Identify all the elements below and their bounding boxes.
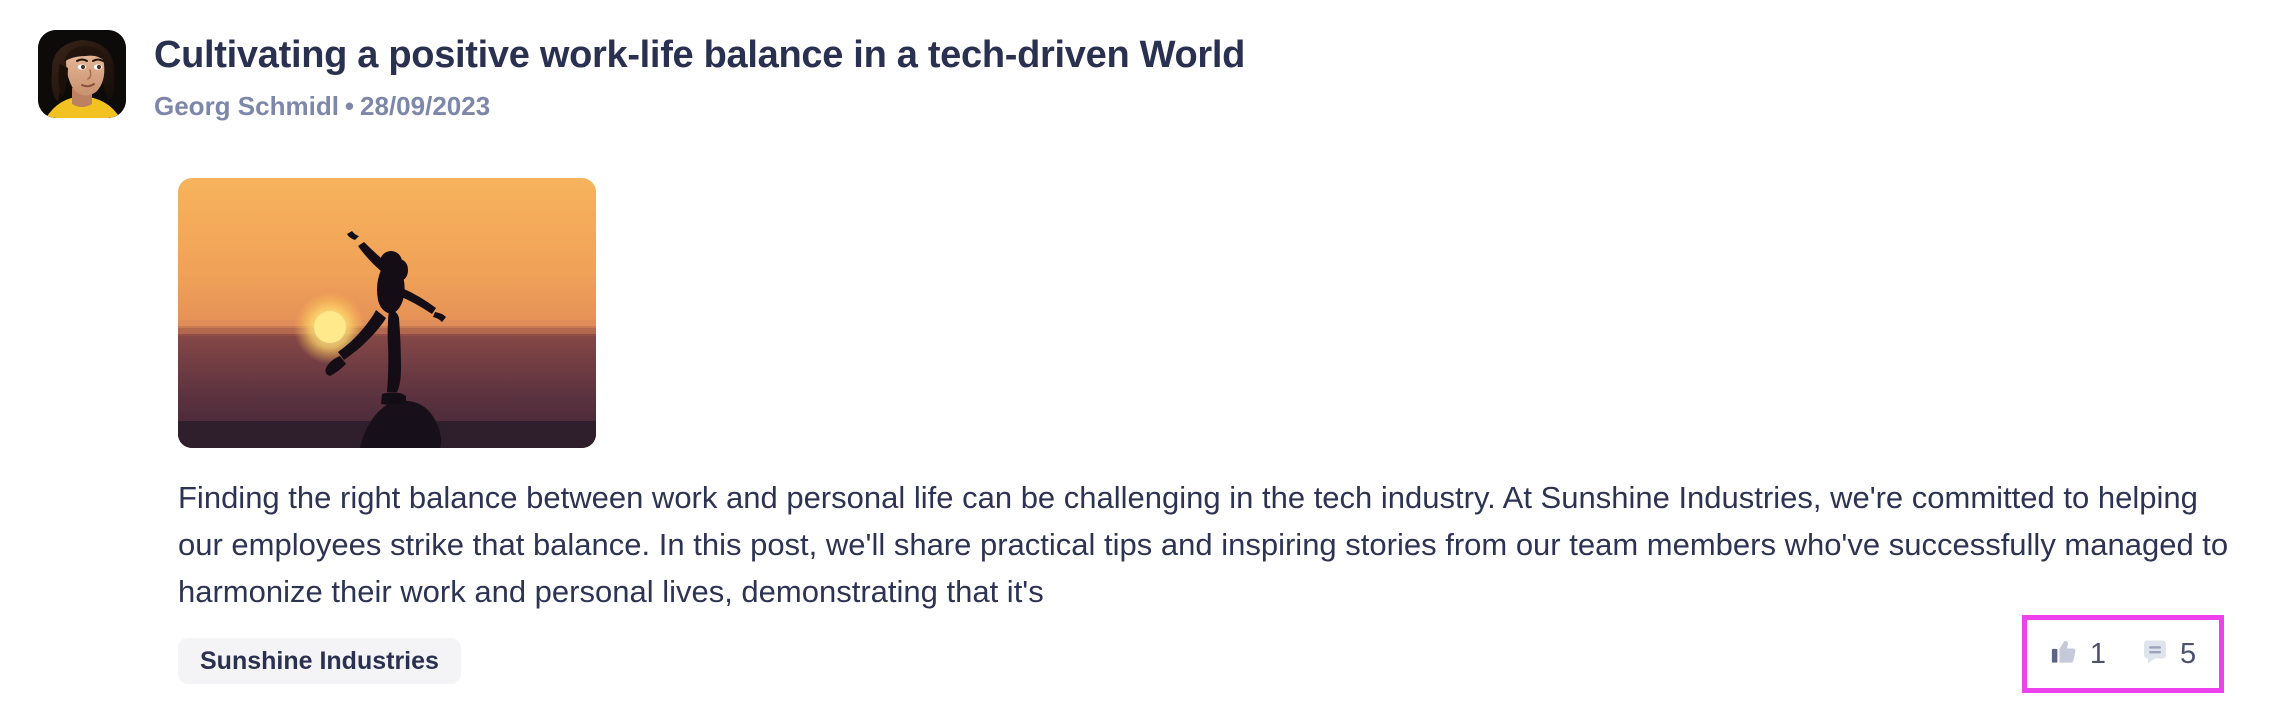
post-title[interactable]: Cultivating a positive work-life balance… [154,32,1245,78]
post-header-text: Cultivating a positive work-life balance… [154,30,1245,122]
post-footer: Sunshine Industries 1 [178,630,2258,692]
byline-separator: • [345,91,354,121]
post-header: Cultivating a positive work-life balance… [38,30,1245,122]
post-date: 28/09/2023 [360,91,490,121]
post-body: Finding the right balance between work a… [178,474,2238,615]
post-thumbnail[interactable] [178,178,596,448]
post-stats-highlight: 1 5 [2022,615,2224,693]
tag-chip-sunshine-industries[interactable]: Sunshine Industries [178,638,461,684]
post-author[interactable]: Georg Schmidl [154,91,339,121]
post-byline: Georg Schmidl•28/09/2023 [154,90,1245,122]
like-stat[interactable]: 1 [2050,637,2106,672]
comment-stat[interactable]: 5 [2140,637,2196,672]
avatar[interactable] [38,30,126,118]
post-card: Cultivating a positive work-life balance… [0,0,2292,718]
like-count: 1 [2090,640,2106,669]
comment-icon [2140,637,2170,672]
thumbs-up-icon [2050,637,2080,672]
comment-count: 5 [2180,640,2196,669]
